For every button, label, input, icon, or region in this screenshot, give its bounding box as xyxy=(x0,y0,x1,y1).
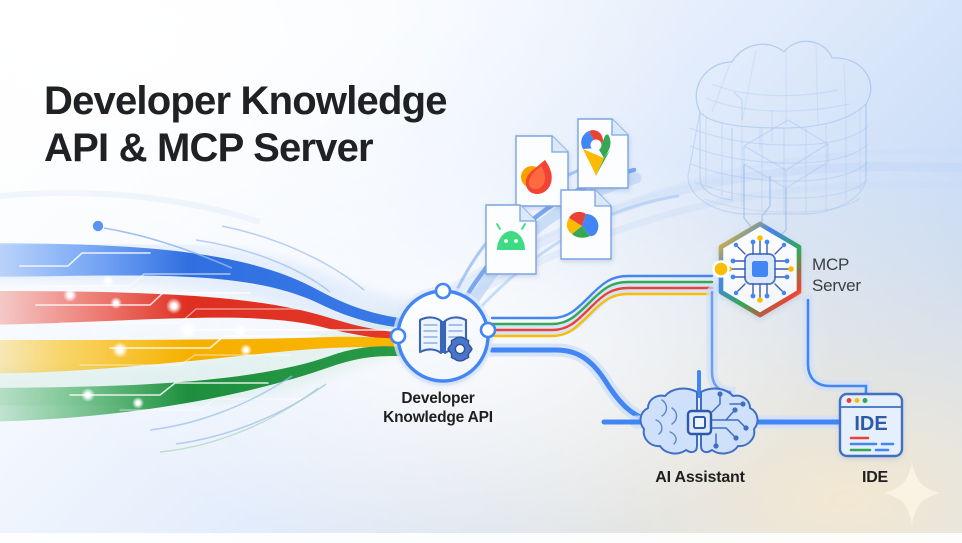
ide-window-title: IDE xyxy=(854,413,887,435)
label-ide: IDE xyxy=(820,468,930,488)
source-card-firebase[interactable] xyxy=(516,136,568,206)
diagram-canvas: IDE Developer Knowledge API & MCP Server… xyxy=(0,0,962,543)
wireframe-cloud-icon xyxy=(688,41,871,244)
brain-circuit-icon xyxy=(688,411,711,434)
source-card-android[interactable] xyxy=(486,205,536,274)
node-mcp-server[interactable] xyxy=(714,224,800,315)
label-ai-assistant: AI Assistant xyxy=(620,468,780,488)
source-card-google-cloud[interactable] xyxy=(561,190,611,259)
node-ide[interactable]: IDE xyxy=(840,394,902,456)
link-api-to-mcp xyxy=(492,276,712,336)
node-ai-assistant[interactable] xyxy=(641,389,758,454)
stream-node-dot xyxy=(93,221,103,231)
api-connector-dot-left xyxy=(391,329,405,343)
label-developer-knowledge-api: Developer Knowledge API xyxy=(338,390,538,428)
mcp-connector-dot xyxy=(714,262,729,277)
cpu-chip-icon xyxy=(726,235,794,303)
page-title: Developer Knowledge API & MCP Server xyxy=(44,78,447,172)
api-connector-dot-top xyxy=(436,284,450,298)
source-card-google-maps[interactable] xyxy=(578,119,628,188)
ide-window-dots xyxy=(847,398,868,403)
api-connector-dot-right xyxy=(481,323,495,337)
label-mcp-server: MCP Server xyxy=(812,255,942,296)
